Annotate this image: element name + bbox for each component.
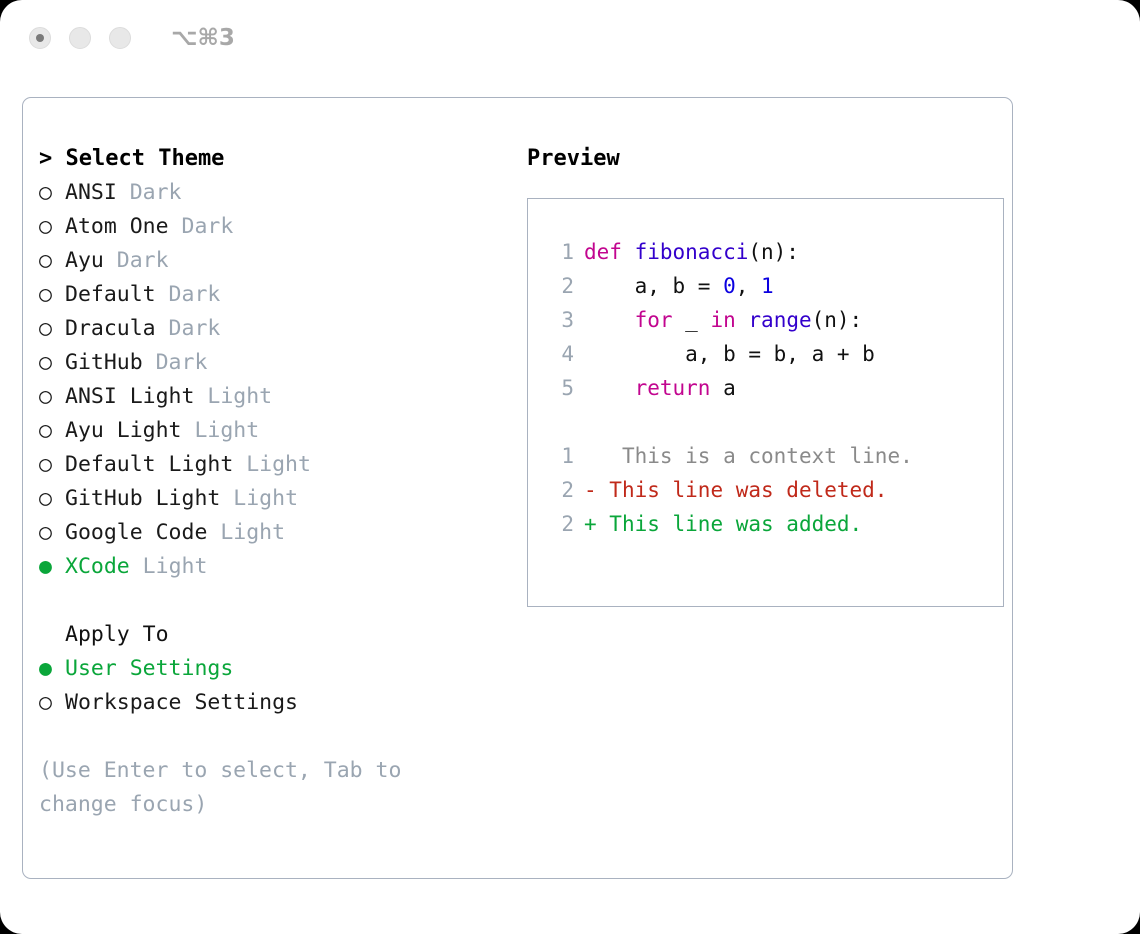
code-line: 2 a, b = 0, 1 [540, 269, 1003, 303]
theme-picker-column: > Select Theme ○ANSI Dark○Atom One Dark○… [39, 142, 509, 878]
theme-name: Google Code [65, 520, 207, 545]
preview-box: 1def fibonacci(n):2 a, b = 0, 13 for _ i… [527, 198, 1004, 607]
theme-variant: Light [130, 554, 208, 579]
code-line: 1def fibonacci(n): [540, 235, 1003, 269]
theme-list-item[interactable]: ○Default Dark [39, 278, 509, 312]
apply-to-list: ●User Settings○Workspace Settings [39, 652, 509, 720]
main-panel: > Select Theme ○ANSI Dark○Atom One Dark○… [22, 97, 1013, 879]
theme-name: GitHub [65, 350, 143, 375]
theme-variant: Dark [169, 214, 234, 239]
theme-name: Dracula [65, 316, 156, 341]
radio-unselected-icon: ○ [39, 312, 65, 346]
theme-list-item[interactable]: ○Atom One Dark [39, 210, 509, 244]
radio-unselected-icon: ○ [39, 380, 65, 414]
preview-title: Preview [527, 142, 1012, 176]
theme-list-item[interactable]: ○GitHub Light Light [39, 482, 509, 516]
line-number: 3 [540, 303, 574, 337]
theme-list: ○ANSI Dark○Atom One Dark○Ayu Dark○Defaul… [39, 176, 509, 584]
theme-list-item[interactable]: ○Ayu Light Light [39, 414, 509, 448]
theme-variant: Dark [117, 180, 182, 205]
title-bar: ⌥⌘3 [0, 0, 1140, 76]
radio-unselected-icon: ○ [39, 448, 65, 482]
theme-name: Ayu [65, 248, 104, 273]
theme-list-item[interactable]: ●XCode Light [39, 550, 509, 584]
theme-name: XCode [65, 554, 130, 579]
line-number: 5 [540, 371, 574, 405]
code-token: _ [673, 308, 711, 332]
code-token: return [635, 376, 711, 400]
diff-marker: - [584, 478, 597, 502]
theme-name: Atom One [65, 214, 169, 239]
theme-list-item[interactable]: ○Default Light Light [39, 448, 509, 482]
code-token: a, b = [584, 274, 723, 298]
diff-marker: + [584, 512, 597, 536]
diff-sample: 1 This is a context line.2- This line wa… [540, 439, 1003, 541]
code-token: 1 [761, 274, 774, 298]
radio-selected-icon: ● [39, 652, 65, 686]
radio-unselected-icon: ○ [39, 346, 65, 380]
theme-name: Ayu Light [65, 418, 182, 443]
code-line: 3 for _ in range(n): [540, 303, 1003, 337]
line-number: 2 [540, 507, 574, 541]
line-number: 1 [540, 439, 574, 473]
apply-to-header-label: Apply To [65, 622, 169, 647]
theme-list-item[interactable]: ○ANSI Light Light [39, 380, 509, 414]
traffic-light-active-dot [36, 34, 44, 42]
apply-to-option[interactable]: ●User Settings [39, 652, 509, 686]
diff-line: 1 This is a context line. [540, 439, 1003, 473]
apply-to-option[interactable]: ○Workspace Settings [39, 686, 509, 720]
theme-list-item[interactable]: ○GitHub Dark [39, 346, 509, 380]
code-token: a [710, 376, 735, 400]
radio-unselected-icon: ○ [39, 414, 65, 448]
code-token: for [635, 308, 673, 332]
radio-unselected-icon: ○ [39, 176, 65, 210]
traffic-light-third[interactable] [109, 27, 131, 49]
code-line: 5 return a [540, 371, 1003, 405]
traffic-light-active[interactable] [29, 27, 51, 49]
theme-list-item[interactable]: ○ANSI Dark [39, 176, 509, 210]
line-number: 2 [540, 269, 574, 303]
code-token: range [748, 308, 811, 332]
theme-name: ANSI Light [65, 384, 194, 409]
theme-list-item[interactable]: ○Ayu Dark [39, 244, 509, 278]
line-number: 2 [540, 473, 574, 507]
theme-name: ANSI [65, 180, 117, 205]
theme-name: Default [65, 282, 156, 307]
theme-name: Default Light [65, 452, 233, 477]
code-token: def [584, 240, 635, 264]
diff-text: This line was added. [597, 512, 863, 536]
keyboard-shortcut-label: ⌥⌘3 [171, 25, 235, 51]
line-number: 1 [540, 235, 574, 269]
apply-to-option-label: Workspace Settings [65, 690, 298, 715]
line-number: 4 [540, 337, 574, 371]
preview-column: Preview 1def fibonacci(n):2 a, b = 0, 13… [509, 142, 1012, 878]
theme-variant: Light [182, 418, 260, 443]
diff-text: This line was deleted. [597, 478, 888, 502]
radio-unselected-icon: ○ [39, 516, 65, 550]
theme-list-item[interactable]: ○Dracula Dark [39, 312, 509, 346]
diff-marker [584, 444, 597, 468]
theme-variant: Dark [104, 248, 169, 273]
theme-list-item[interactable]: ○Google Code Light [39, 516, 509, 550]
code-token: a, b = b, a + b [584, 342, 875, 366]
theme-variant: Light [220, 486, 298, 511]
spacer [39, 584, 509, 618]
code-line: 4 a, b = b, a + b [540, 337, 1003, 371]
code-token [736, 308, 749, 332]
diff-line: 2- This line was deleted. [540, 473, 1003, 507]
code-token: , [736, 274, 761, 298]
theme-variant: Light [233, 452, 311, 477]
radio-selected-icon: ● [39, 550, 65, 584]
radio-unselected-icon: ○ [39, 278, 65, 312]
radio-unselected-icon: ○ [39, 686, 65, 720]
code-token [584, 376, 635, 400]
code-token: in [710, 308, 735, 332]
traffic-light-second[interactable] [69, 27, 91, 49]
theme-variant: Dark [156, 316, 221, 341]
code-token: fibonacci [635, 240, 749, 264]
apply-to-option-label: User Settings [65, 656, 233, 681]
code-diff-separator [540, 405, 1003, 439]
radio-unselected-icon: ○ [39, 482, 65, 516]
theme-variant: Dark [156, 282, 221, 307]
theme-variant: Light [207, 520, 285, 545]
code-sample: 1def fibonacci(n):2 a, b = 0, 13 for _ i… [540, 235, 1003, 405]
apply-to-header: Apply To [39, 618, 509, 652]
select-theme-header: > Select Theme [39, 142, 509, 176]
theme-variant: Dark [143, 350, 208, 375]
code-token [584, 308, 635, 332]
keyboard-hint: (Use Enter to select, Tab to change focu… [39, 754, 459, 822]
theme-variant: Light [194, 384, 272, 409]
theme-name: GitHub Light [65, 486, 220, 511]
diff-text: This is a context line. [597, 444, 913, 468]
diff-line: 2+ This line was added. [540, 507, 1003, 541]
radio-unselected-icon: ○ [39, 244, 65, 278]
apply-to-header-indent [39, 618, 65, 652]
code-token: (n): [748, 240, 799, 264]
app-window: ⌥⌘3 > Select Theme ○ANSI Dark○Atom One D… [0, 0, 1140, 934]
code-token: (n): [812, 308, 863, 332]
code-token: 0 [723, 274, 736, 298]
radio-unselected-icon: ○ [39, 210, 65, 244]
